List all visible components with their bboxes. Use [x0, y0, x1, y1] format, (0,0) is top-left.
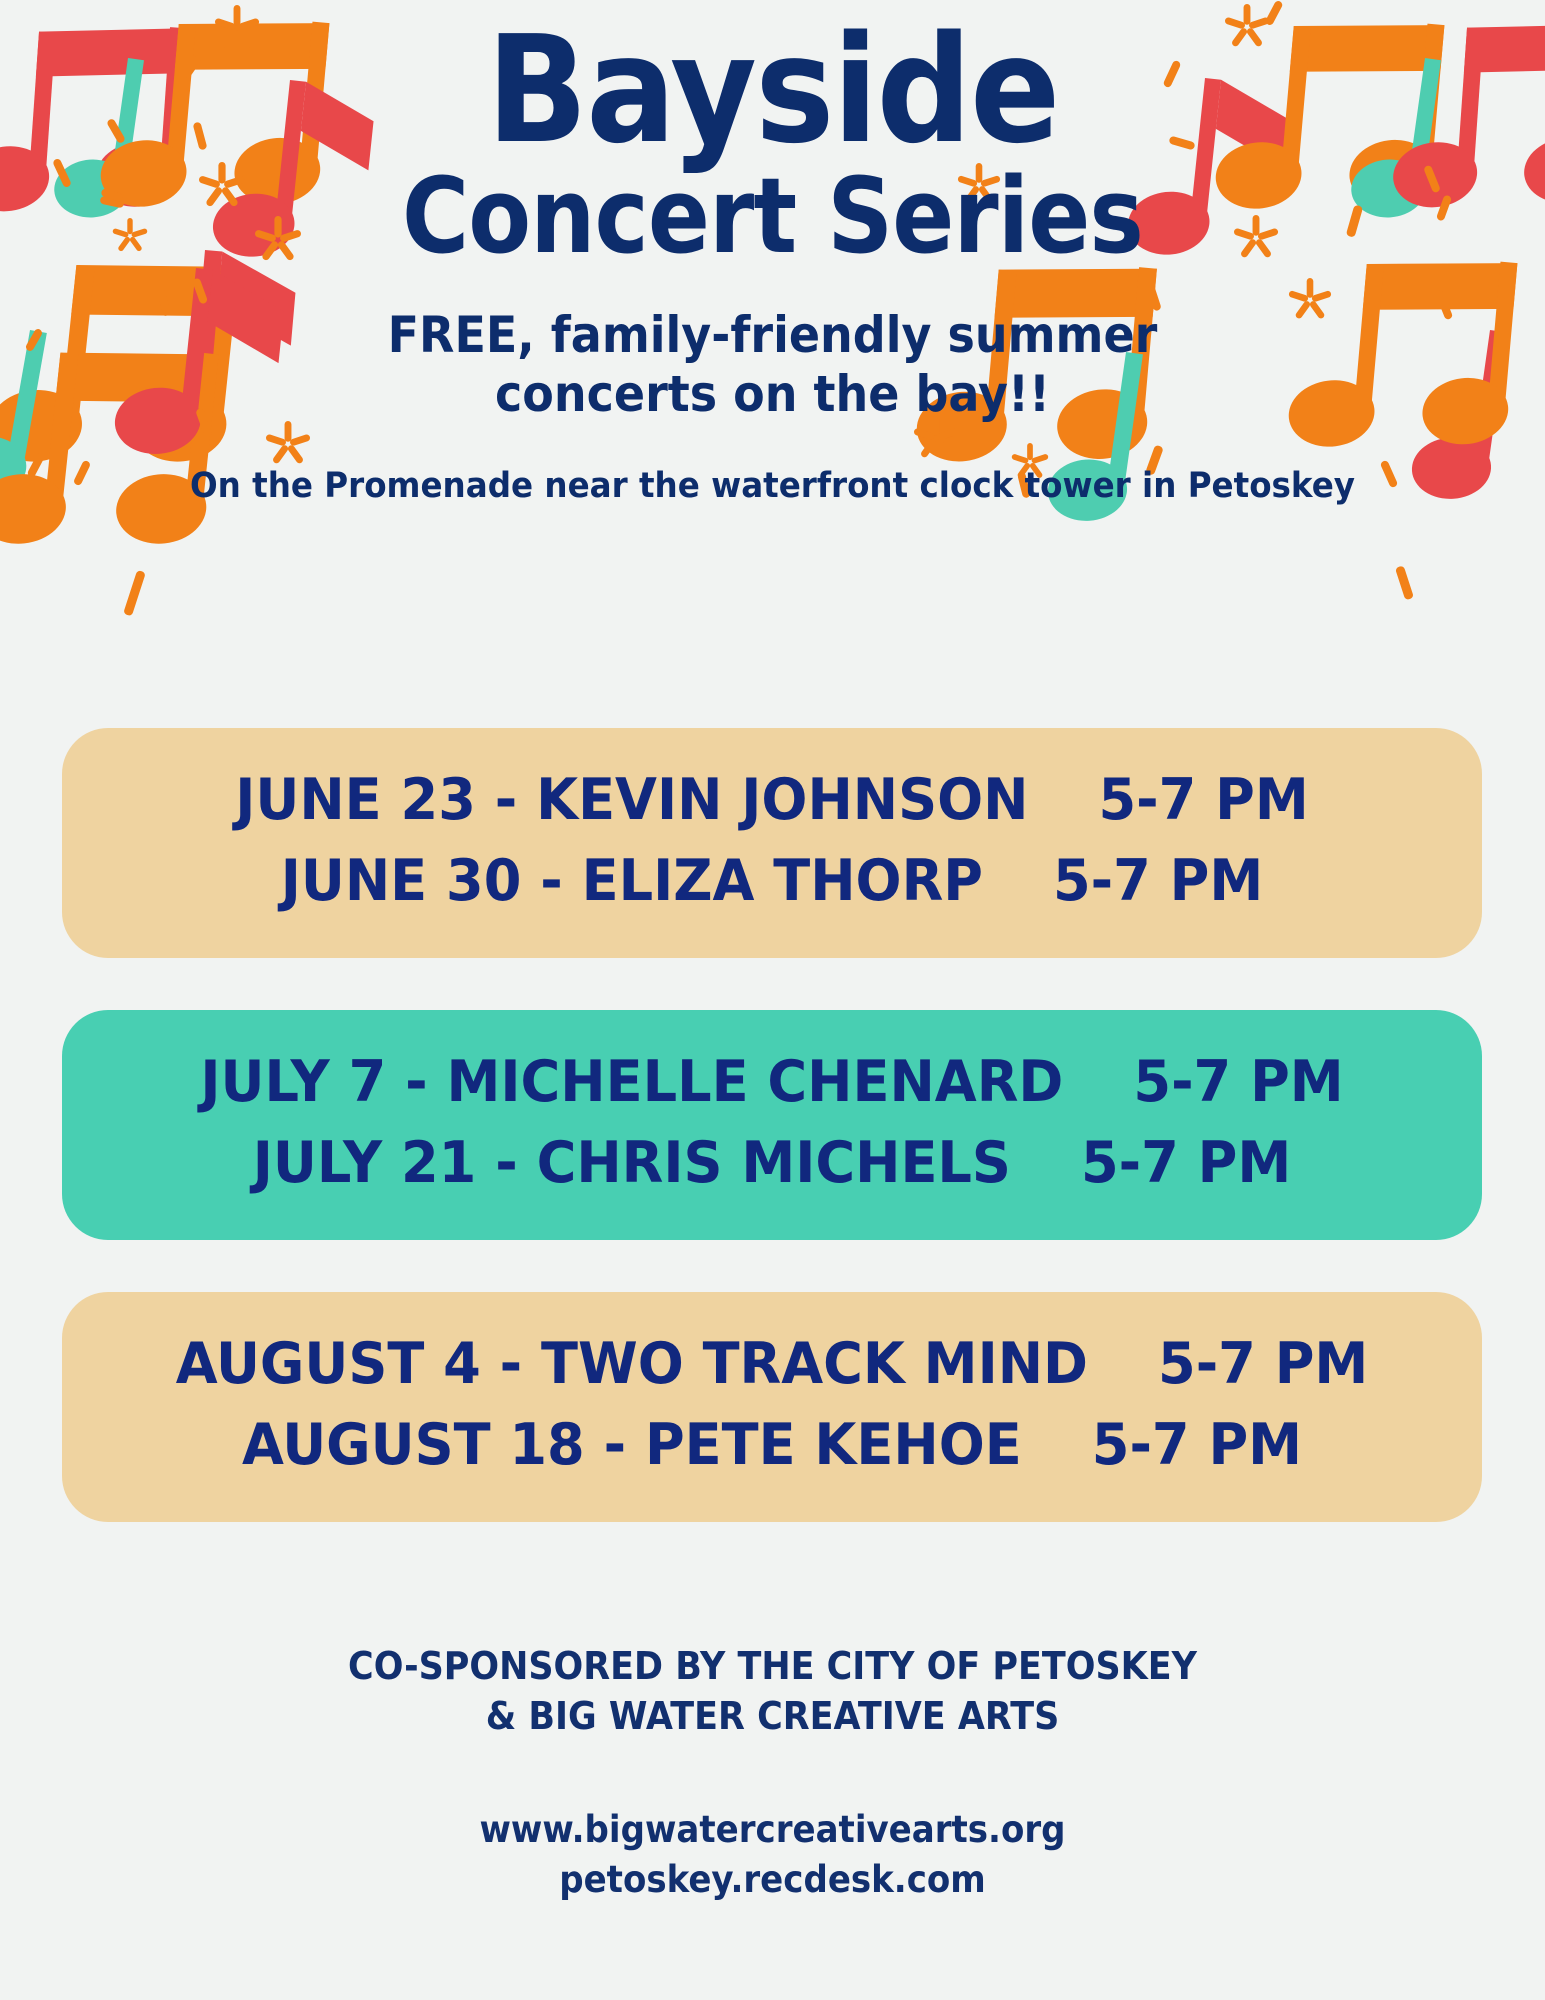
event-time: 5-7 PM [1098, 767, 1308, 833]
event-time: 5-7 PM [1092, 1412, 1302, 1478]
event-date: JUNE 30 [281, 848, 522, 914]
event-time: 5-7 PM [1133, 1049, 1343, 1115]
schedule-block-july: JULY 7 - MICHELLE CHENARD 5-7 PM JULY 21… [62, 1010, 1482, 1240]
event-artist: TWO TRACK MIND [541, 1331, 1088, 1397]
sponsor-line-1: CO-SPONSORED BY THE CITY OF PETOSKEY [329, 1641, 1217, 1691]
event-artist: KEVIN JOHNSON [536, 767, 1028, 833]
event-dash: - [500, 1331, 522, 1397]
schedule-row: JUNE 30 - ELIZA THORP 5-7 PM [117, 841, 1428, 922]
schedule-row: AUGUST 18 - PETE KEHOE 5-7 PM [117, 1405, 1428, 1486]
event-time: 5-7 PM [1081, 1130, 1291, 1196]
event-artist: MICHELLE CHENARD [446, 1049, 1063, 1115]
schedule-list: JUNE 23 - KEVIN JOHNSON 5-7 PM JUNE 30 -… [62, 728, 1482, 1574]
event-date: JULY 7 [200, 1049, 386, 1115]
event-dash: - [495, 767, 517, 833]
page-title: Bayside [77, 0, 1468, 158]
event-date: AUGUST 18 [242, 1412, 585, 1478]
page-subtitle: Concert Series [93, 158, 1453, 268]
poster-footer: CITY OF PETOSKEY MICHIGAN CO-SPONSORED B… [0, 1595, 1545, 1995]
tagline-line-1: FREE, family-friendly summer [388, 306, 1158, 364]
sponsor-line-2: & BIG WATER CREATIVE ARTS [329, 1691, 1217, 1741]
poster-root: Bayside Concert Series FREE, family-frie… [0, 0, 1545, 2000]
event-date: JUNE 23 [235, 767, 476, 833]
tagline-line-2: concerts on the bay!! [62, 365, 1483, 424]
event-dash: - [405, 1049, 427, 1115]
event-artist: CHRIS MICHELS [537, 1130, 1011, 1196]
tagline: FREE, family-friendly summer concerts on… [62, 268, 1483, 424]
event-date: AUGUST 4 [176, 1331, 481, 1397]
website-links: www.bigwatercreativearts.org petoskey.re… [329, 1805, 1217, 1905]
footer-text-block: CO-SPONSORED BY THE CITY OF PETOSKEY & B… [290, 1641, 1255, 1905]
schedule-row: JULY 7 - MICHELLE CHENARD 5-7 PM [117, 1042, 1428, 1123]
link-recdesk[interactable]: petoskey.recdesk.com [329, 1855, 1217, 1905]
event-time: 5-7 PM [1158, 1331, 1368, 1397]
event-dash: - [495, 1130, 517, 1196]
event-dash: - [540, 848, 562, 914]
event-artist: ELIZA THORP [582, 848, 983, 914]
schedule-row: JUNE 23 - KEVIN JOHNSON 5-7 PM [117, 760, 1428, 841]
location-text: On the Promenade near the waterfront clo… [54, 424, 1491, 506]
schedule-block-august: AUGUST 4 - TWO TRACK MIND 5-7 PM AUGUST … [62, 1292, 1482, 1522]
schedule-row: AUGUST 4 - TWO TRACK MIND 5-7 PM [117, 1324, 1428, 1405]
schedule-block-june: JUNE 23 - KEVIN JOHNSON 5-7 PM JUNE 30 -… [62, 728, 1482, 958]
event-date: JULY 21 [253, 1130, 477, 1196]
poster-header: Bayside Concert Series FREE, family-frie… [0, 0, 1545, 506]
schedule-row: JULY 21 - CHRIS MICHELS 5-7 PM [117, 1123, 1428, 1204]
sponsor-credit: CO-SPONSORED BY THE CITY OF PETOSKEY & B… [329, 1641, 1217, 1741]
event-dash: - [604, 1412, 626, 1478]
link-bigwater[interactable]: www.bigwatercreativearts.org [329, 1805, 1217, 1855]
event-artist: PETE KEHOE [645, 1412, 1022, 1478]
event-time: 5-7 PM [1053, 848, 1263, 914]
